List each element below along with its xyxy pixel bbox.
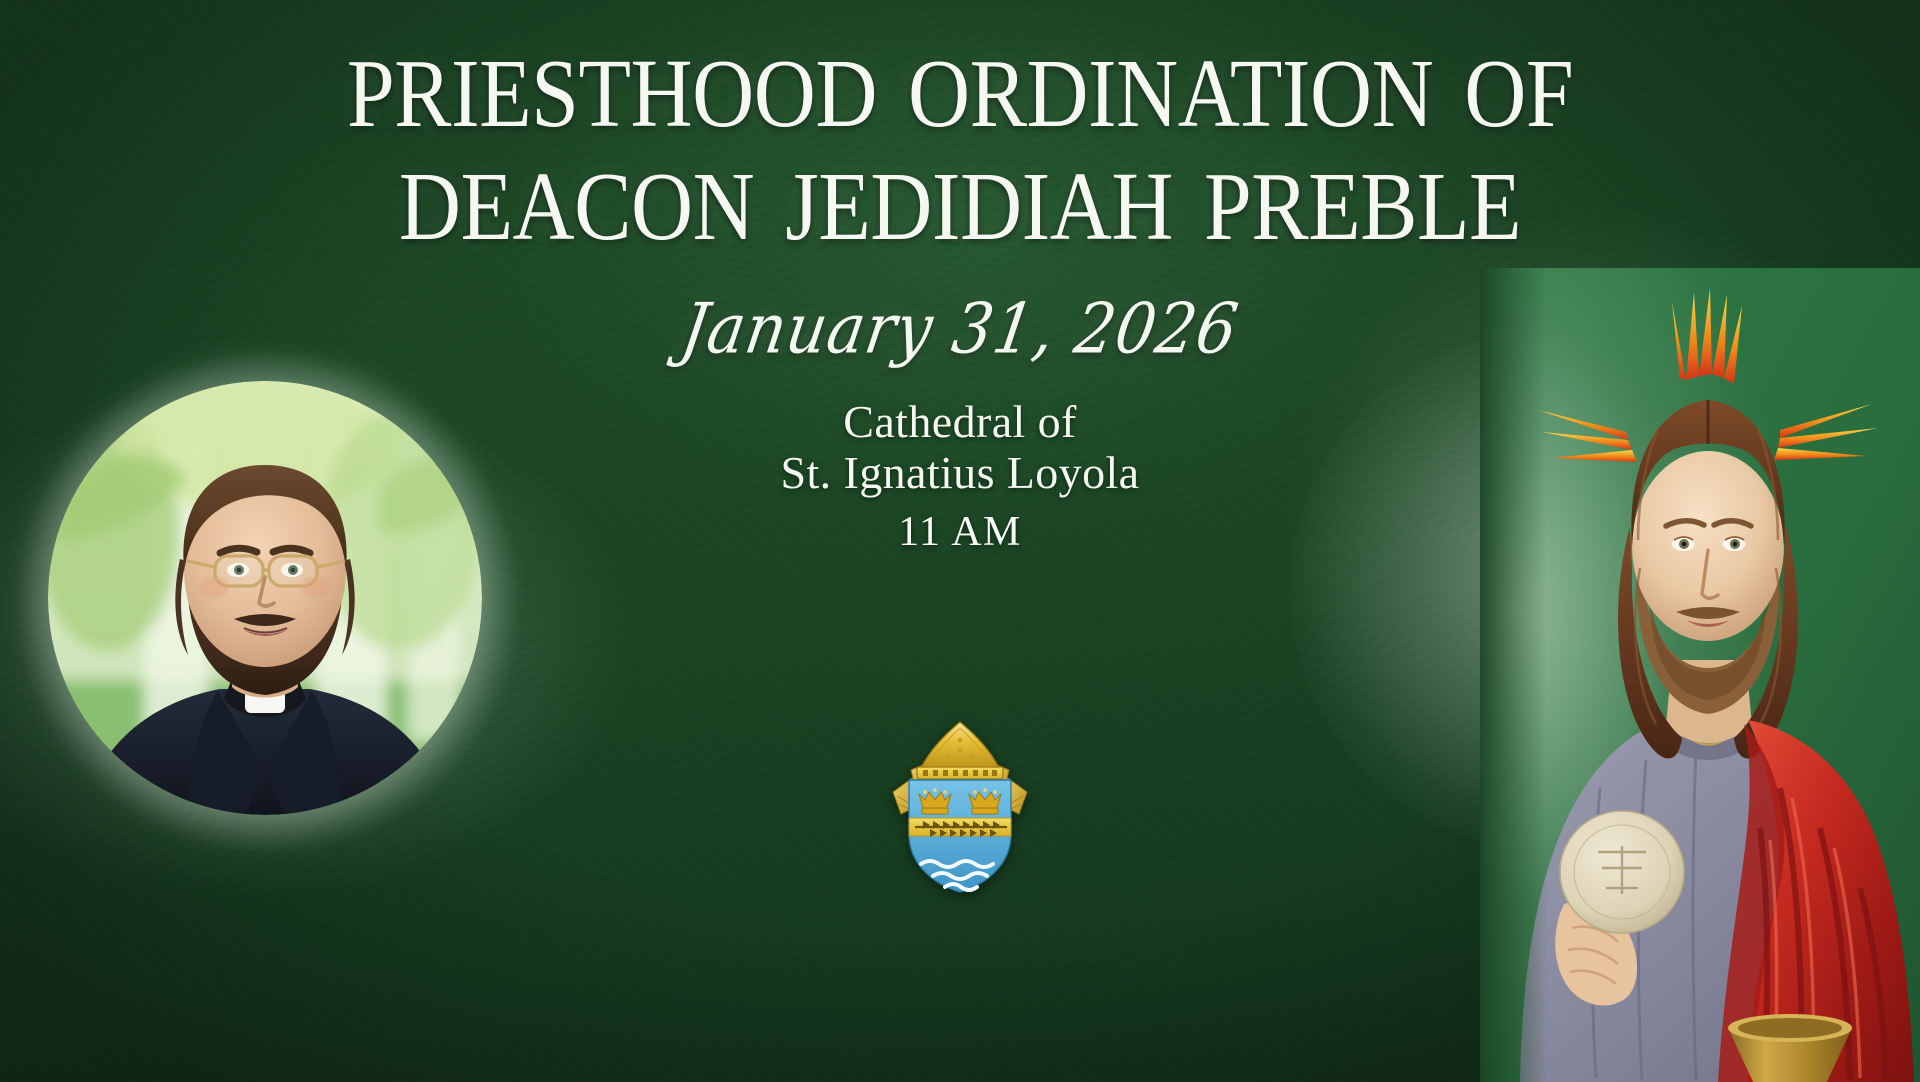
event-venue: Cathedral of St. Ignatius Loyola bbox=[580, 397, 1340, 498]
title-line-2: DEACON JEDIDIAH PREBLE bbox=[0, 159, 1920, 255]
event-time: 11 AM bbox=[580, 508, 1340, 556]
title-line-1: PRIESTHOOD ORDINATION OF bbox=[0, 46, 1920, 142]
ordinand-portrait bbox=[48, 381, 482, 815]
event-details: January 31, 2026 Cathedral of St. Ignati… bbox=[580, 296, 1340, 556]
page-title: PRIESTHOOD ORDINATION OF DEACON JEDIDIAH… bbox=[0, 46, 1920, 244]
ordination-announcement-poster: PRIESTHOOD ORDINATION OF DEACON JEDIDIAH… bbox=[0, 0, 1920, 1082]
venue-line-2: St. Ignatius Loyola bbox=[580, 448, 1340, 499]
diocesan-crest bbox=[885, 718, 1035, 894]
venue-line-1: Cathedral of bbox=[580, 397, 1340, 448]
event-date: January 31, 2026 bbox=[574, 292, 1346, 365]
christ-with-eucharist-painting bbox=[1480, 268, 1920, 1082]
